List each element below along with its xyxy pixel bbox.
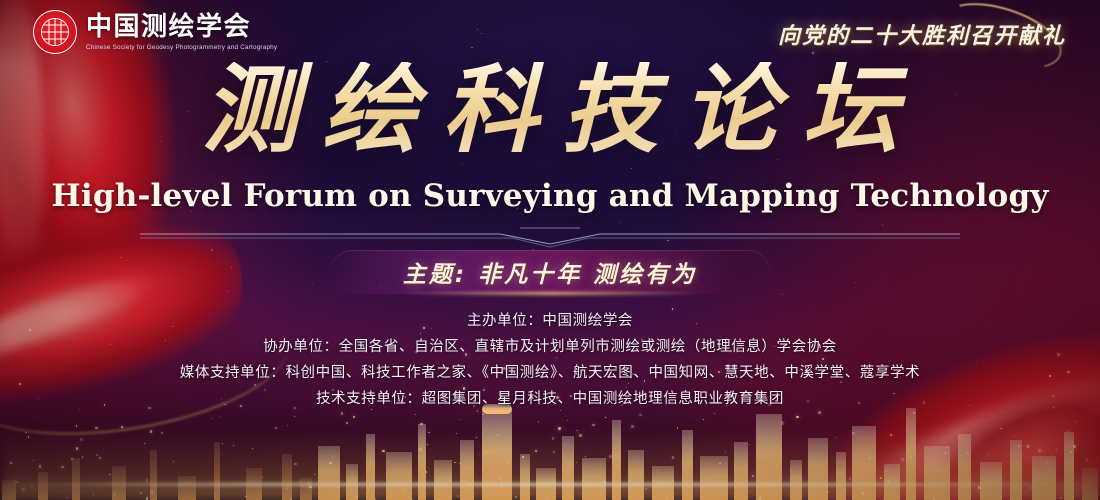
v-notch-divider-icon	[0, 222, 1100, 248]
page-title: 测绘科技论坛	[0, 62, 1100, 158]
theme-banner: 主题: 非凡十年 测绘有为	[330, 250, 770, 294]
credit-line-tech: 技术支持单位：超图集团、星月科技、中国测绘地理信息职业教育集团	[0, 386, 1100, 412]
credit-line-media: 媒体支持单位：科创中国、科技工作者之家、《中国测绘》、航天宏图、中国知网、慧天地…	[0, 360, 1100, 386]
credit-line-cohost: 协办单位：全国各省、自治区、直辖市及计划单列市测绘或测绘（地理信息）学会协会	[0, 334, 1100, 360]
logo-cn-name: 中国测绘学会	[86, 13, 277, 41]
credits-block: 主办单位：中国测绘学会 协办单位：全国各省、自治区、直辖市及计划单列市测绘或测绘…	[0, 308, 1100, 412]
page-subtitle: High-level Forum on Surveying and Mappin…	[0, 178, 1100, 215]
theme-underglow	[400, 292, 700, 295]
credit-line-host: 主办单位：中国测绘学会	[0, 308, 1100, 334]
globe-grid-emblem-icon	[33, 10, 77, 54]
society-logo[interactable]: 中国测绘学会 Chinese Society for Geodesy Photo…	[33, 10, 277, 54]
anniversary-slogan: 向党的二十大胜利召开献礼	[778, 18, 1066, 50]
theme-text: 主题: 非凡十年 测绘有为	[403, 255, 697, 289]
logo-en-name: Chinese Society for Geodesy Photogrammet…	[86, 44, 277, 51]
event-banner: 中国测绘学会 Chinese Society for Geodesy Photo…	[0, 0, 1100, 500]
